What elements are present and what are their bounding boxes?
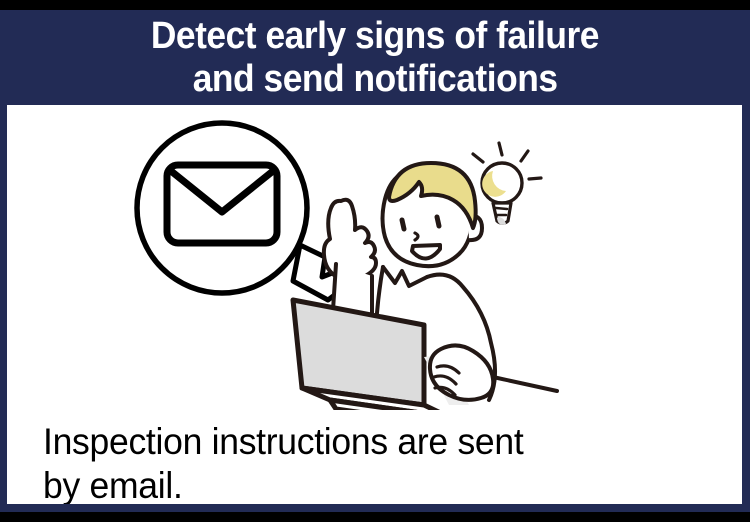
page-title-line-1: Detect early signs of failure xyxy=(151,15,599,58)
lightbulb-icon xyxy=(473,143,541,225)
caption-line-1: Inspection instructions are sent xyxy=(43,420,677,464)
person-eye-left xyxy=(402,220,404,229)
person-head xyxy=(383,163,483,266)
illustration xyxy=(97,105,567,410)
caption-line-2: by email. xyxy=(43,464,677,504)
desk-line xyxy=(493,377,557,391)
person-pointing-hand xyxy=(324,200,376,320)
person-eye-right xyxy=(437,217,439,226)
person-collar xyxy=(383,267,427,286)
slide-frame: Detect early signs of failure and send n… xyxy=(0,10,750,512)
page-title-line-2: and send notifications xyxy=(193,58,558,101)
caption: Inspection instructions are sent by emai… xyxy=(43,420,677,504)
slide-header: Detect early signs of failure and send n… xyxy=(0,10,750,105)
hand-palm xyxy=(430,345,493,399)
slide-body-panel: Inspection instructions are sent by emai… xyxy=(7,105,742,504)
envelope-icon xyxy=(167,165,277,243)
person-typing-hand xyxy=(430,345,493,399)
hand-fist xyxy=(324,200,376,281)
illustration-svg xyxy=(97,105,567,410)
